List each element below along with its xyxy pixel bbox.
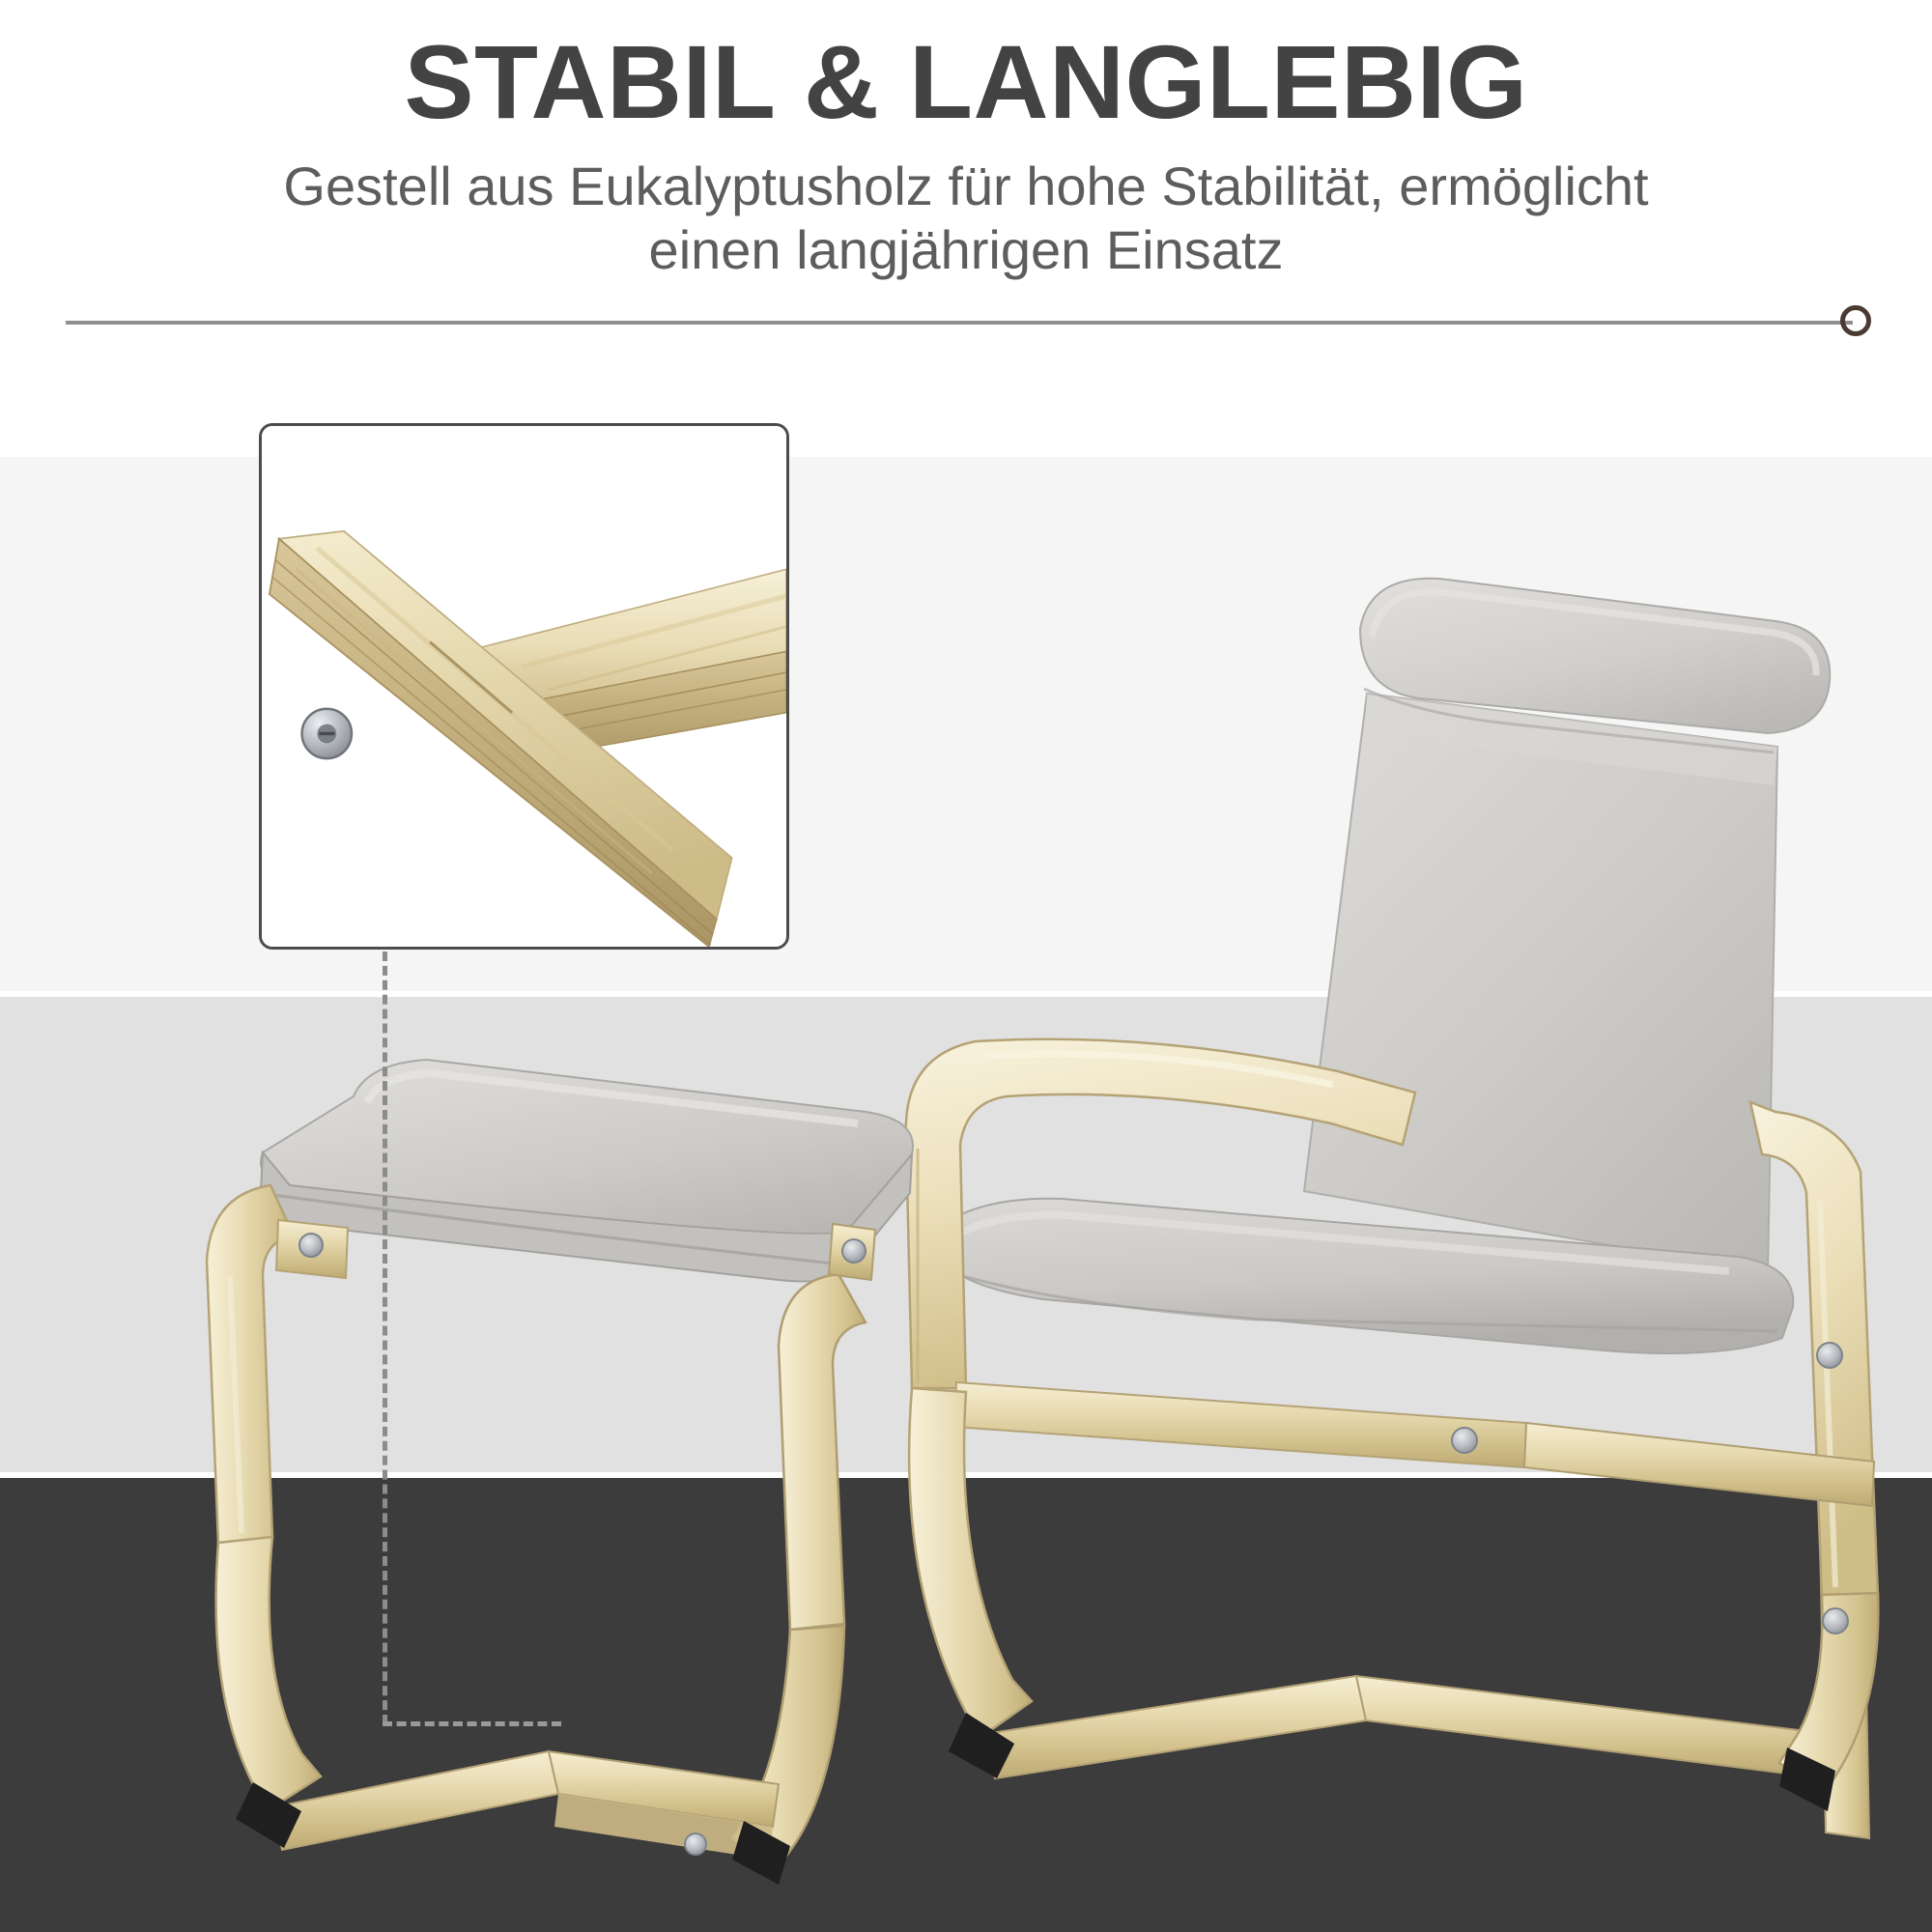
header: STABIL & LANGLEBIG Gestell aus Eukalyptu… (0, 0, 1932, 454)
chair-side-rail-near (954, 1382, 1526, 1467)
chair-base-runner-far (1356, 1676, 1799, 1775)
chair-back-cushion (1304, 694, 1777, 1273)
ottoman-screw-runner (685, 1833, 706, 1855)
ottoman-screw-right (842, 1239, 866, 1263)
page-title: STABIL & LANGLEBIG (0, 27, 1932, 136)
divider-endpoint-circle-icon (1840, 305, 1871, 336)
chair-screw-seat-rail (1452, 1428, 1477, 1453)
header-divider (0, 311, 1932, 359)
wood-joint-closeup-illustration (262, 426, 786, 947)
product-feature-banner: STABIL & LANGLEBIG Gestell aus Eukalyptu… (0, 0, 1932, 1932)
ottoman (207, 1060, 913, 1885)
subtitle-line-1: Gestell aus Eukalyptusholz für hohe Stab… (155, 155, 1777, 218)
callout-line-vertical (383, 952, 387, 1724)
chair-screw-lower-far (1823, 1608, 1848, 1634)
ottoman-base-curve-near (216, 1537, 321, 1807)
ottoman-leg-right (779, 1274, 866, 1630)
detail-inset-box (259, 423, 789, 950)
chair-base-curve-near (909, 1388, 1032, 1734)
chair-screw-upper-far (1817, 1343, 1842, 1368)
callout-line-horizontal (383, 1721, 561, 1726)
ottoman-screw-near (299, 1234, 323, 1257)
page-subtitle: Gestell aus Eukalyptusholz für hohe Stab… (155, 155, 1777, 281)
divider-line (66, 321, 1853, 325)
subtitle-line-2: einen langjährigen Einsatz (155, 218, 1777, 282)
chair-base-runner-near (985, 1676, 1366, 1778)
ottoman-runner-near (272, 1751, 558, 1850)
armchair (906, 579, 1879, 1838)
